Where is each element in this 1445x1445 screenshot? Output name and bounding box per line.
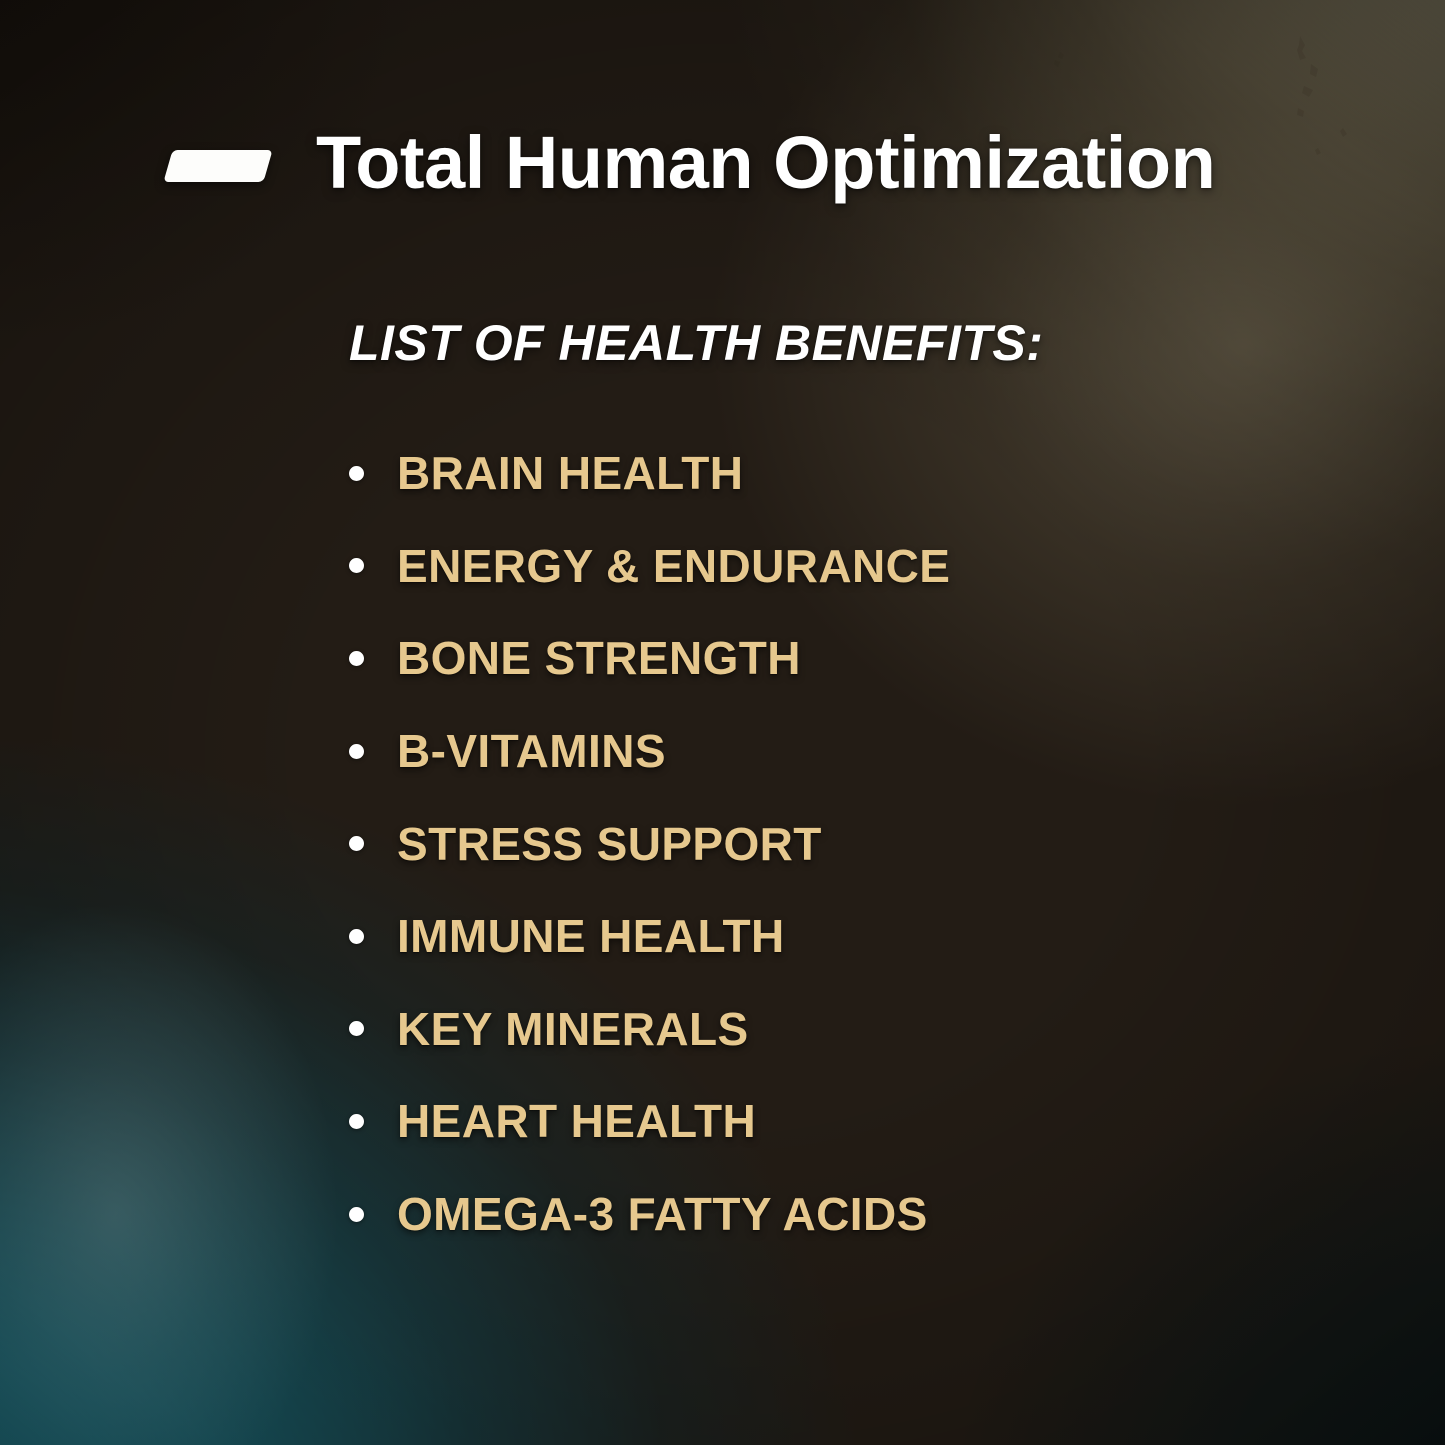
bullet-icon	[349, 929, 364, 944]
health-benefits-list: BRAIN HEALTH ENERGY & ENDURANCE BONE STR…	[349, 427, 950, 1260]
benefit-label: KEY MINERALS	[397, 1006, 749, 1052]
list-item: IMMUNE HEALTH	[349, 890, 950, 983]
benefit-label: STRESS SUPPORT	[397, 821, 822, 867]
bullet-icon	[349, 558, 364, 573]
benefit-label: BRAIN HEALTH	[397, 450, 743, 496]
bullet-icon	[349, 1207, 364, 1222]
list-item: HEART HEALTH	[349, 1075, 950, 1168]
benefit-label: BONE STRENGTH	[397, 635, 801, 681]
benefit-label: OMEGA-3 FATTY ACIDS	[397, 1191, 928, 1237]
bullet-icon	[349, 1114, 364, 1129]
list-item: ENERGY & ENDURANCE	[349, 520, 950, 613]
benefit-label: HEART HEALTH	[397, 1098, 756, 1144]
benefit-label: ENERGY & ENDURANCE	[397, 543, 950, 589]
list-item: BRAIN HEALTH	[349, 427, 950, 520]
bullet-icon	[349, 466, 364, 481]
list-item: OMEGA-3 FATTY ACIDS	[349, 1168, 950, 1261]
benefit-label: IMMUNE HEALTH	[397, 913, 785, 959]
bullet-icon	[349, 836, 364, 851]
slanted-dash-icon	[163, 150, 272, 182]
list-item: STRESS SUPPORT	[349, 797, 950, 890]
page-title: Total Human Optimization	[316, 126, 1215, 200]
poster-canvas: Total Human Optimization LIST OF HEALTH …	[0, 0, 1445, 1445]
bullet-icon	[349, 744, 364, 759]
list-item: KEY MINERALS	[349, 983, 950, 1076]
bullet-icon	[349, 1021, 364, 1036]
benefits-heading: LIST OF HEALTH BENEFITS:	[349, 318, 1043, 368]
list-item: B-VITAMINS	[349, 705, 950, 798]
benefit-label: B-VITAMINS	[397, 728, 666, 774]
list-item: BONE STRENGTH	[349, 612, 950, 705]
poster-header: Total Human Optimization	[168, 126, 1215, 200]
bullet-icon	[349, 651, 364, 666]
